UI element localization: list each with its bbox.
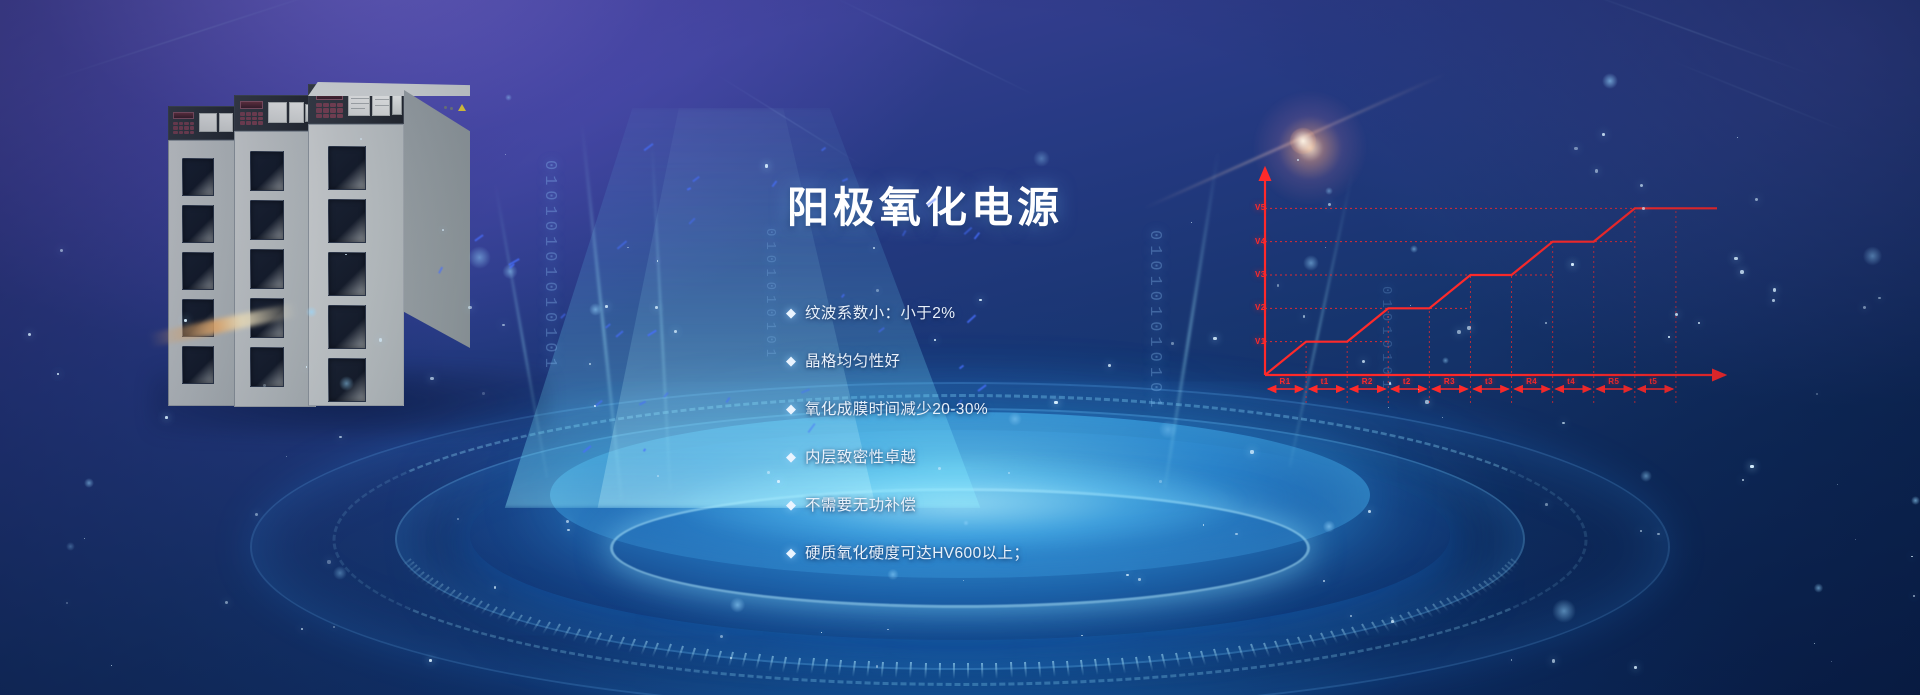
particle: [165, 416, 168, 419]
cabinet-keypad[interactable]: [173, 122, 194, 134]
particle: [1642, 207, 1645, 210]
chart-segment-label: R3: [1444, 377, 1455, 386]
particle: [979, 299, 981, 301]
bokeh-orb: [1033, 150, 1050, 167]
bokeh-orb: [505, 94, 512, 101]
cabinet-door-panel[interactable]: [328, 146, 366, 190]
diamond-bullet-icon: ◆: [786, 402, 796, 415]
particle: [1425, 400, 1428, 403]
particle: [57, 373, 59, 375]
particle: [502, 324, 504, 326]
bokeh-orb: [468, 246, 491, 269]
list-item: ◆ 纹波系数小：小于2%: [786, 288, 1246, 336]
cabinet-label-plate: [268, 102, 287, 123]
chart-segment-label: R5: [1608, 377, 1619, 386]
particle: [1755, 198, 1759, 202]
particle: [360, 138, 362, 140]
particle: [1837, 484, 1838, 485]
particle: [1814, 643, 1816, 645]
diamond-bullet-icon: ◆: [786, 450, 796, 463]
cabinet-meter[interactable]: [392, 94, 402, 115]
particle: [1054, 401, 1057, 404]
list-item: ◆ 不需要无功补偿: [786, 480, 1246, 528]
diamond-bullet-icon: ◆: [786, 546, 796, 559]
particle: [494, 586, 496, 588]
particle: [777, 480, 780, 483]
feature-list: ◆ 纹波系数小：小于2% ◆ 晶格均匀性好 ◆ 氧化成膜时间减少20-30% ◆…: [786, 288, 1246, 576]
podium-tick: [967, 663, 969, 679]
podium-tick: [1010, 662, 1013, 678]
bokeh-orb: [887, 569, 899, 581]
diamond-bullet-icon: ◆: [786, 354, 796, 367]
particle: [1323, 580, 1325, 582]
cabinet-label-plate: [199, 113, 217, 132]
cabinet-lcd-display[interactable]: [240, 101, 263, 109]
bokeh-orb: [1863, 246, 1883, 266]
cabinet-keypad[interactable]: [316, 103, 343, 118]
cabinet-keypad[interactable]: [240, 112, 263, 125]
cabinet-lcd-display[interactable]: [173, 112, 194, 119]
cabinet-brand-dot: [444, 106, 447, 109]
cabinet-door-panel[interactable]: [250, 151, 284, 191]
particle: [1772, 299, 1775, 302]
particle: [327, 560, 330, 563]
chart-y-tick-label: V4: [1255, 237, 1266, 246]
bokeh-orb: [963, 520, 969, 526]
shard-fleck: [561, 313, 567, 319]
particle: [1878, 297, 1880, 299]
particle: [1816, 393, 1818, 395]
particle: [1126, 574, 1128, 576]
bokeh-orb: [84, 478, 94, 488]
podium-tick: [924, 663, 927, 679]
particle: [1863, 306, 1866, 309]
cabinet-door-panel[interactable]: [250, 200, 284, 240]
particle: [1545, 503, 1548, 506]
particle: [60, 249, 63, 252]
bokeh-orb: [1640, 470, 1652, 482]
chart-segment-label: t3: [1485, 377, 1493, 386]
list-item: ◆ 硬质氧化硬度可达HV600以上；: [786, 528, 1246, 576]
cabinet-brand-dot: [450, 107, 453, 110]
particle: [1595, 169, 1598, 172]
list-item: ◆ 内层致密性卓越: [786, 432, 1246, 480]
bokeh-orb: [306, 306, 318, 318]
particle: [883, 403, 885, 405]
chart-segment-label: t4: [1567, 377, 1575, 386]
particle: [1913, 595, 1915, 597]
feature-text: 硬质氧化硬度可达HV600以上；: [805, 541, 1029, 563]
chart-y-tick-label: V2: [1255, 303, 1266, 312]
cabinet-door-panel[interactable]: [182, 346, 214, 384]
lens-flare-core: [1290, 128, 1316, 154]
feature-text: 纹波系数小：小于2%: [805, 301, 955, 323]
feature-text: 不需要无功补偿: [805, 493, 916, 515]
particle: [1325, 247, 1326, 248]
chart-segment-label: R2: [1362, 377, 1373, 386]
podium-tick: [953, 663, 955, 679]
particle: [1602, 133, 1604, 135]
bokeh-orb: [339, 376, 354, 391]
particle: [1737, 137, 1738, 138]
power-cabinet: [234, 95, 316, 407]
chart-y-tick-label: V1: [1255, 337, 1266, 346]
particle: [1831, 661, 1832, 662]
particle: [1773, 288, 1776, 291]
cabinet-door-panel[interactable]: [328, 305, 366, 349]
cabinet-label-plate: [219, 113, 233, 132]
particle: [1457, 330, 1461, 334]
chart-svg: [1255, 160, 1735, 410]
bokeh-orb: [1325, 187, 1333, 195]
bokeh-orb: [66, 542, 75, 551]
particle: [1750, 465, 1754, 469]
chart-segment-label: R1: [1280, 377, 1291, 386]
particle: [28, 333, 31, 336]
particle: [876, 665, 878, 667]
bokeh-orb: [1323, 520, 1336, 533]
diamond-bullet-icon: ◆: [786, 306, 796, 319]
cabinet-top-cap: [308, 82, 470, 96]
light-streak: [831, 0, 1038, 97]
podium-tick: [938, 663, 940, 679]
bokeh-orb: [1602, 73, 1618, 89]
particle: [1571, 263, 1574, 266]
warning-triangle-icon: [458, 104, 466, 111]
chart-segment-label: t2: [1403, 377, 1411, 386]
voltage-profile-chart: V1V2V3V4V5R1t1R2t2R3t3R4t4R5t5: [1255, 160, 1735, 410]
particle: [84, 538, 86, 540]
bokeh-orb: [1159, 420, 1177, 438]
particle: [1467, 326, 1470, 329]
cabinet-door-panel[interactable]: [250, 347, 284, 387]
feature-text: 晶格均匀性好: [805, 349, 900, 371]
cabinet-label-plate: [289, 102, 304, 123]
binary-decoration: 01010101010101: [540, 160, 559, 373]
chart-segment-label: t1: [1321, 377, 1329, 386]
cabinet-door-panel[interactable]: [182, 252, 214, 290]
particle: [255, 513, 258, 516]
particle: [765, 164, 768, 167]
chart-segment-label: R4: [1526, 377, 1537, 386]
particle: [482, 392, 485, 395]
chart-segment-label: t5: [1649, 377, 1657, 386]
particle: [1033, 210, 1036, 213]
light-streak: [1667, 59, 1853, 135]
bokeh-orb: [1814, 583, 1824, 593]
cabinet-door-panel[interactable]: [328, 252, 366, 296]
particle: [767, 471, 770, 474]
power-cabinet: [308, 84, 404, 406]
particle: [505, 154, 506, 155]
chart-y-tick-label: V5: [1255, 203, 1266, 212]
banner-root: 01010101010101 0101010101 010101010101 0…: [0, 0, 1920, 695]
bokeh-orb: [730, 597, 746, 613]
particle: [1277, 284, 1279, 286]
page-title: 阳极氧化电源: [787, 174, 1063, 235]
light-streak: [1568, 0, 1813, 75]
cabinet-door-panel[interactable]: [328, 199, 366, 243]
cabinet-door-panel[interactable]: [250, 249, 284, 289]
bokeh-orb: [1552, 599, 1576, 623]
particle: [1171, 342, 1173, 344]
list-item: ◆ 晶格均匀性好: [786, 336, 1246, 384]
particle: [1250, 450, 1253, 453]
cabinet-side-face: [404, 90, 470, 348]
power-cabinet-group: [168, 84, 498, 414]
chart-y-tick-label: V3: [1255, 270, 1266, 279]
particle: [1391, 620, 1394, 623]
particle: [1368, 510, 1371, 513]
particle: [1634, 666, 1637, 669]
particle: [657, 260, 658, 261]
particle: [1574, 147, 1577, 150]
particle: [1855, 539, 1856, 540]
diamond-bullet-icon: ◆: [786, 498, 796, 511]
particle: [1911, 556, 1912, 557]
particle: [66, 602, 67, 603]
particle: [1698, 322, 1700, 324]
cabinet-door-panel[interactable]: [182, 205, 214, 243]
particle: [1742, 479, 1744, 481]
particle: [111, 665, 112, 666]
bokeh-orb: [1008, 412, 1022, 426]
particle: [1734, 257, 1737, 260]
particle: [1191, 222, 1192, 223]
particle: [379, 338, 382, 341]
particle: [184, 319, 187, 322]
light-streak: [47, 0, 333, 81]
particle: [657, 475, 659, 477]
particle: [1740, 270, 1744, 274]
feature-text: 内层致密性卓越: [805, 445, 916, 467]
particle: [429, 659, 432, 662]
particle: [605, 305, 608, 308]
binary-decoration: 0101010101: [762, 228, 778, 362]
cabinet-door-panel[interactable]: [182, 158, 214, 196]
particle: [1138, 578, 1140, 580]
particle: [1213, 337, 1216, 340]
bokeh-orb: [1911, 496, 1920, 505]
particle: [430, 377, 433, 380]
